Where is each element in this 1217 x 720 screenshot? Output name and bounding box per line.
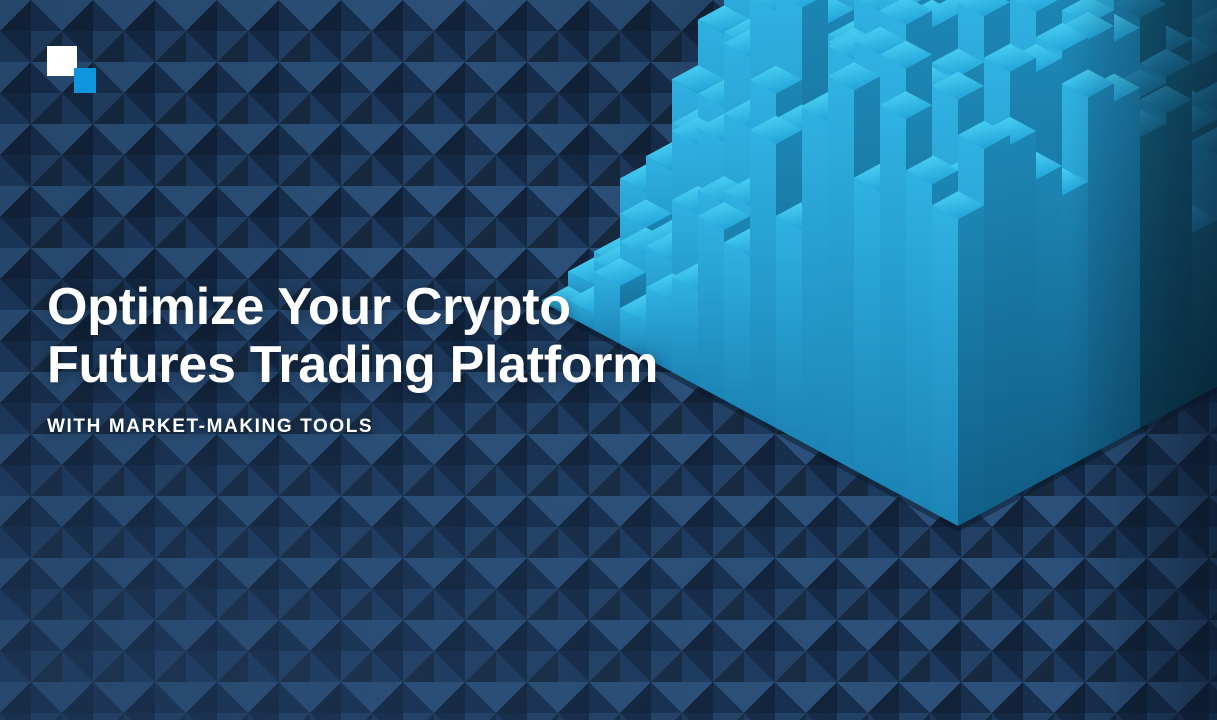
- logo-square-light-icon: [47, 46, 77, 76]
- hero-copy: Optimize Your Crypto Futures Trading Pla…: [47, 278, 747, 438]
- hero-headline-line-2: Futures Trading Platform: [47, 336, 747, 394]
- hero-headline-line-1: Optimize Your Crypto: [47, 278, 747, 336]
- brand-logo[interactable]: [47, 46, 97, 94]
- logo-square-accent-icon: [74, 68, 96, 93]
- hero-subheadline: WITH MARKET-MAKING TOOLS: [47, 416, 747, 438]
- hero-banner: Optimize Your Crypto Futures Trading Pla…: [0, 0, 1217, 720]
